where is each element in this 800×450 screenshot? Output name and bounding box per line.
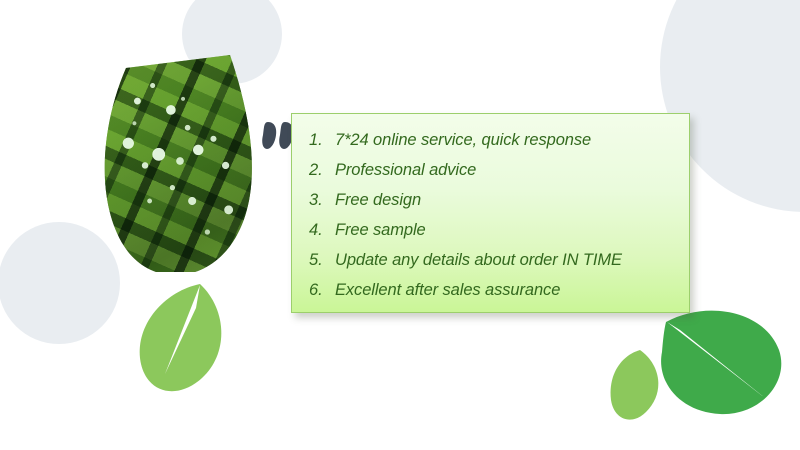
- list-item-label: 7*24 online service, quick response: [335, 125, 591, 155]
- list-item-label: Free sample: [335, 215, 426, 245]
- list-item: 6. Excellent after sales assurance: [309, 275, 689, 305]
- list-item-number: 3.: [309, 185, 335, 215]
- decorative-circle-left: [0, 222, 120, 344]
- list-item-number: 2.: [309, 155, 335, 185]
- list-item: 2. Professional advice: [309, 155, 689, 185]
- leaf-small-right-icon: [610, 348, 666, 422]
- list-item-number: 6.: [309, 275, 335, 305]
- service-list: 1. 7*24 online service, quick response 2…: [292, 114, 689, 305]
- leaf-bottom-left-icon: [138, 278, 230, 396]
- leaf-big-right-icon: [660, 308, 782, 418]
- list-item-label: Professional advice: [335, 155, 476, 185]
- list-item-label: Excellent after sales assurance: [335, 275, 560, 305]
- list-item-label: Update any details about order IN TIME: [335, 245, 622, 275]
- service-list-panel: 1. 7*24 online service, quick response 2…: [291, 113, 690, 313]
- list-item-number: 5.: [309, 245, 335, 275]
- list-item: 1. 7*24 online service, quick response: [309, 125, 689, 155]
- grass-droplets-photo: [104, 50, 256, 272]
- leaf-photo-image: [104, 50, 256, 272]
- list-item-label: Free design: [335, 185, 421, 215]
- list-item-number: 4.: [309, 215, 335, 245]
- slide-canvas: 1. 7*24 online service, quick response 2…: [0, 0, 800, 450]
- list-item: 3. Free design: [309, 185, 689, 215]
- list-item: 5. Update any details about order IN TIM…: [309, 245, 689, 275]
- list-item-number: 1.: [309, 125, 335, 155]
- list-item: 4. Free sample: [309, 215, 689, 245]
